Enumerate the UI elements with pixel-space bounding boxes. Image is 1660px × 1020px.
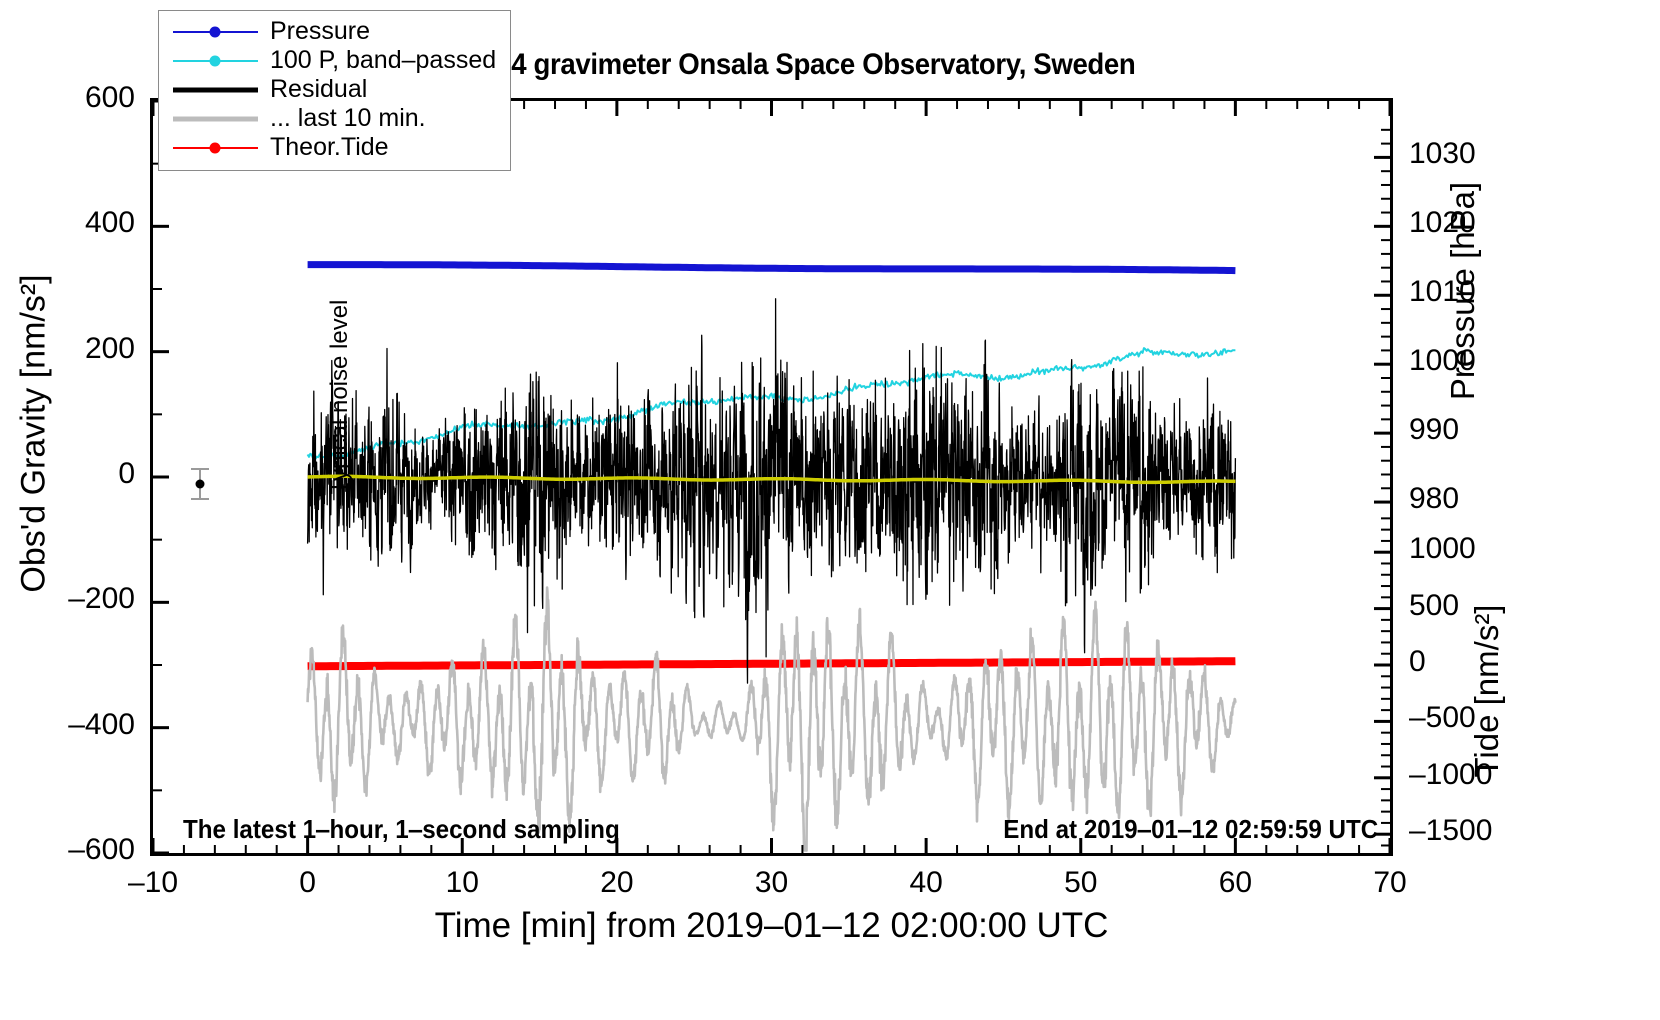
tide-tick-‒1000: ‒1000	[1409, 758, 1529, 792]
x-tick-10: 10	[402, 866, 522, 900]
typical-noise-level-marker	[187, 467, 213, 501]
legend-item-label: Residual	[258, 75, 367, 104]
x-tick-20: 20	[557, 866, 677, 900]
legend-swatch-icon	[173, 75, 258, 104]
y-tick-200: 200	[0, 332, 135, 366]
legend-swatch-icon	[173, 17, 258, 46]
legend-item-0[interactable]: Pressure	[159, 17, 510, 46]
tide-tick-‒500: ‒500	[1409, 701, 1529, 735]
x-tick-70: 70	[1330, 866, 1450, 900]
x-tick-40: 40	[866, 866, 986, 900]
footer-note-right: End at 2019‒01‒12 02:59:59 UTC	[1003, 814, 1378, 845]
gravimeter-chart-figure: SCG_054 gravimeter Onsala Space Observat…	[0, 0, 1660, 1020]
chart-legend[interactable]: Pressure100 P, band‒passedResidual... la…	[158, 10, 511, 171]
y-tick-‒400: ‒400	[0, 708, 135, 742]
legend-item-2[interactable]: Residual	[159, 75, 510, 104]
typical-noise-level-label: Typical noise level	[326, 272, 354, 522]
tide-tick-1000: 1000	[1409, 532, 1529, 566]
x-tick-30: 30	[712, 866, 832, 900]
tide-tick-0: 0	[1409, 645, 1529, 679]
pressure-tick-1010: 1010	[1409, 275, 1519, 309]
pressure-tick-990: 990	[1409, 413, 1519, 447]
plot-area[interactable]: Typical noise level The latest 1‒hour, 1…	[150, 98, 1393, 856]
tide-tick-500: 500	[1409, 589, 1529, 623]
pressure-tick-1000: 1000	[1409, 344, 1519, 378]
y-tick-‒200: ‒200	[0, 582, 135, 616]
legend-item-label: ... last 10 min.	[258, 104, 426, 133]
x-tick-0: 0	[248, 866, 368, 900]
y-tick-‒600: ‒600	[0, 833, 135, 867]
legend-item-4[interactable]: Theor.Tide	[159, 133, 510, 162]
x-axis-label: Time [min] from 2019‒01‒12 02:00:00 UTC	[150, 906, 1393, 946]
x-tick-‒10: ‒10	[93, 866, 213, 900]
legend-item-label: 100 P, band‒passed	[258, 46, 496, 75]
x-tick-60: 60	[1175, 866, 1295, 900]
y-tick-400: 400	[0, 206, 135, 240]
x-tick-50: 50	[1021, 866, 1141, 900]
y-tick-0: 0	[0, 457, 135, 491]
footer-note-left: The latest 1‒hour, 1‒second sampling	[183, 814, 620, 845]
y-tick-600: 600	[0, 81, 135, 115]
legend-item-1[interactable]: 100 P, band‒passed	[159, 46, 510, 75]
legend-item-3[interactable]: ... last 10 min.	[159, 104, 510, 133]
legend-swatch-icon	[173, 104, 258, 133]
legend-swatch-icon	[173, 46, 258, 75]
legend-swatch-icon	[173, 133, 258, 162]
legend-item-label: Theor.Tide	[258, 133, 389, 162]
tide-tick-‒1500: ‒1500	[1409, 814, 1529, 848]
pressure-tick-1030: 1030	[1409, 137, 1519, 171]
pressure-tick-1020: 1020	[1409, 206, 1519, 240]
pressure-tick-980: 980	[1409, 482, 1519, 516]
legend-item-label: Pressure	[258, 17, 370, 46]
